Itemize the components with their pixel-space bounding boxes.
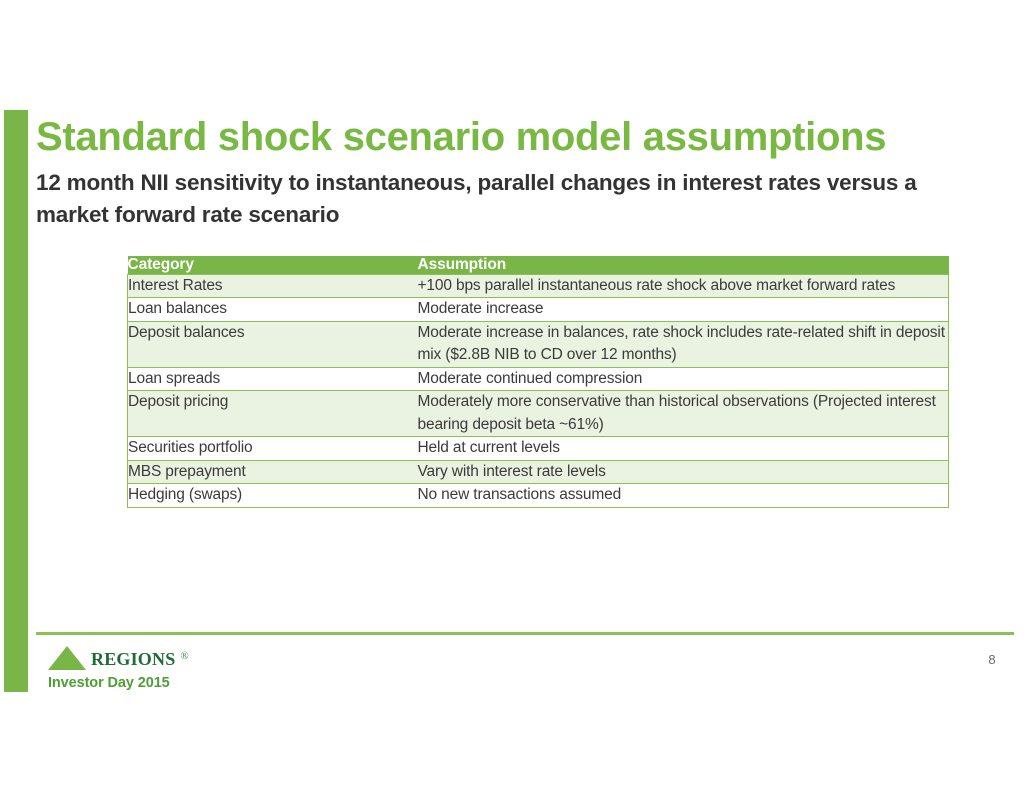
cell-category: Loan balances xyxy=(128,298,418,321)
footer-divider xyxy=(36,632,1014,635)
registered-trademark-icon: ® xyxy=(180,650,188,662)
cell-category: Hedging (swaps) xyxy=(128,484,418,507)
page-subtitle: 12 month NII sensitivity to instantaneou… xyxy=(36,167,936,231)
logo-tagline: Investor Day 2015 xyxy=(48,675,189,691)
left-accent-bar xyxy=(4,110,28,692)
cell-assumption: Moderate increase in balances, rate shoc… xyxy=(418,321,949,367)
cell-category: Loan spreads xyxy=(128,367,418,390)
table-header: Category Assumption xyxy=(128,256,949,275)
table-row: Hedging (swaps)No new transactions assum… xyxy=(128,484,949,507)
cell-assumption: Moderately more conservative than histor… xyxy=(418,391,949,437)
cell-category: Deposit pricing xyxy=(128,391,418,437)
assumptions-table: Category Assumption Interest Rates+100 b… xyxy=(127,256,949,508)
cell-assumption: No new transactions assumed xyxy=(418,484,949,507)
table-row: Deposit pricingModerately more conservat… xyxy=(128,391,949,437)
triangle-icon xyxy=(48,646,86,670)
cell-assumption: Moderate increase xyxy=(418,298,949,321)
logo-wordmark: Regions xyxy=(91,644,175,671)
table-row: Interest Rates+100 bps parallel instanta… xyxy=(128,275,949,298)
table-row: Loan balancesModerate increase xyxy=(128,298,949,321)
page-title: Standard shock scenario model assumption… xyxy=(36,116,886,158)
cell-category: Deposit balances xyxy=(128,321,418,367)
cell-assumption: Vary with interest rate levels xyxy=(418,460,949,483)
cell-assumption: Held at current levels xyxy=(418,437,949,460)
column-header-category: Category xyxy=(128,256,418,275)
table-row: Securities portfolioHeld at current leve… xyxy=(128,437,949,460)
cell-assumption: +100 bps parallel instantaneous rate sho… xyxy=(418,275,949,298)
cell-category: Securities portfolio xyxy=(128,437,418,460)
table-row: Loan spreadsModerate continued compressi… xyxy=(128,367,949,390)
column-header-assumption: Assumption xyxy=(418,256,949,275)
table-row: Deposit balancesModerate increase in bal… xyxy=(128,321,949,367)
table-header-row: Category Assumption xyxy=(128,256,949,275)
table-row: MBS prepaymentVary with interest rate le… xyxy=(128,460,949,483)
cell-category: MBS prepayment xyxy=(128,460,418,483)
regions-logo: Regions® Investor Day 2015 xyxy=(48,645,189,687)
cell-category: Interest Rates xyxy=(128,275,418,298)
cell-assumption: Moderate continued compression xyxy=(418,367,949,390)
page-number: 8 xyxy=(980,652,1004,667)
table-body: Interest Rates+100 bps parallel instanta… xyxy=(128,275,949,508)
